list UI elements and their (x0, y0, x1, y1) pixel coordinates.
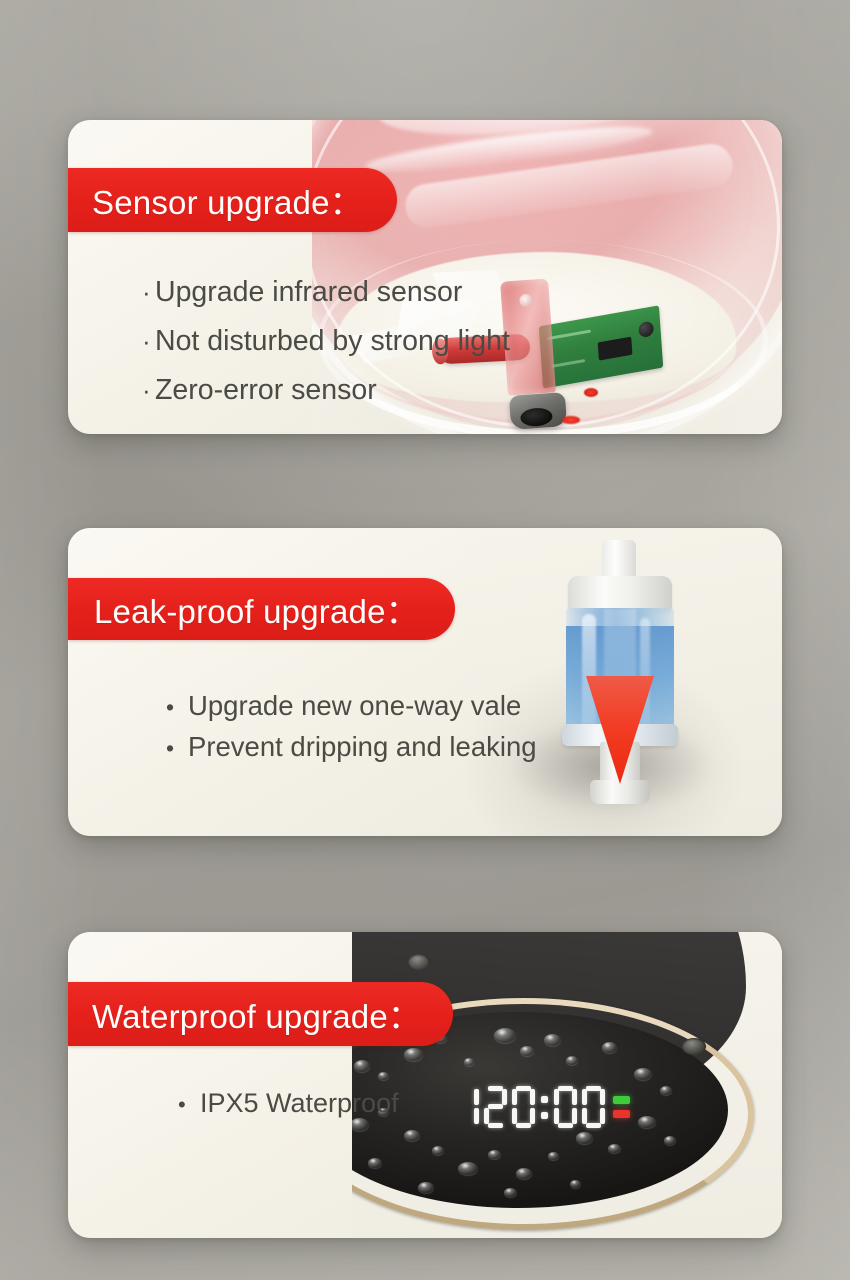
feature-card-leak-proof-upgrade: Leak-proof upgrade： • Upgrade new one-wa… (68, 528, 782, 836)
waterproof-base-photo (352, 932, 782, 1238)
feature-list-sensor-upgrade: · Upgrade infrared sensor · Not disturbe… (142, 268, 510, 415)
bullet-marker-icon: • (166, 687, 188, 727)
card-badge-leak-proof-upgrade: Leak-proof upgrade： (68, 578, 455, 640)
status-indicator-red (613, 1110, 630, 1118)
led-digit-1 (456, 1086, 479, 1128)
feature-card-waterproof-upgrade: Waterproof upgrade： • IPX5 Waterproof (68, 932, 782, 1238)
list-item-label: IPX5 Waterproof (200, 1084, 399, 1122)
list-item-label: Not disturbed by strong light (155, 317, 510, 366)
led-digit-4 (554, 1086, 577, 1128)
list-item-label: Upgrade new one-way vale (188, 686, 521, 726)
list-item: • Prevent dripping and leaking (166, 727, 537, 768)
list-item: • IPX5 Waterproof (178, 1084, 399, 1124)
list-item-label: Prevent dripping and leaking (188, 727, 537, 767)
card-badge-sensor-upgrade: Sensor upgrade： (68, 168, 397, 232)
flow-direction-arrow-icon (586, 676, 654, 784)
one-way-valve-photo (462, 528, 782, 836)
list-item: • Upgrade new one-way vale (166, 686, 537, 727)
feature-list-leak-proof-upgrade: • Upgrade new one-way vale • Prevent dri… (166, 686, 537, 768)
feature-list-waterproof-upgrade: • IPX5 Waterproof (178, 1084, 399, 1124)
led-digit-3 (512, 1086, 535, 1128)
list-item-label: Upgrade infrared sensor (155, 268, 462, 317)
status-indicator-green (613, 1096, 630, 1104)
list-item: · Zero-error sensor (142, 366, 510, 415)
list-item-label: Zero-error sensor (155, 366, 377, 415)
bullet-marker-icon: · (142, 366, 155, 415)
led-digit-2 (484, 1086, 507, 1128)
led-digit-5 (582, 1086, 605, 1128)
led-status-indicators (613, 1086, 631, 1128)
badge-label: Sensor upgrade： (92, 176, 363, 224)
feature-card-sensor-upgrade: Sensor upgrade： · Upgrade infrared senso… (68, 120, 782, 434)
bullet-marker-icon: · (142, 317, 155, 366)
bullet-marker-icon: • (178, 1086, 200, 1124)
bullet-marker-icon: • (166, 728, 188, 768)
badge-label: Leak-proof upgrade： (94, 585, 419, 633)
infographic-page: Sensor upgrade： · Upgrade infrared senso… (0, 0, 850, 1280)
list-item: · Upgrade infrared sensor (142, 268, 510, 317)
badge-label: Waterproof upgrade： (92, 990, 421, 1038)
led-time-display (456, 1086, 631, 1128)
list-item: · Not disturbed by strong light (142, 317, 510, 366)
bullet-marker-icon: · (142, 268, 155, 317)
led-colon-separator (540, 1086, 549, 1128)
card-badge-waterproof-upgrade: Waterproof upgrade： (68, 982, 453, 1046)
